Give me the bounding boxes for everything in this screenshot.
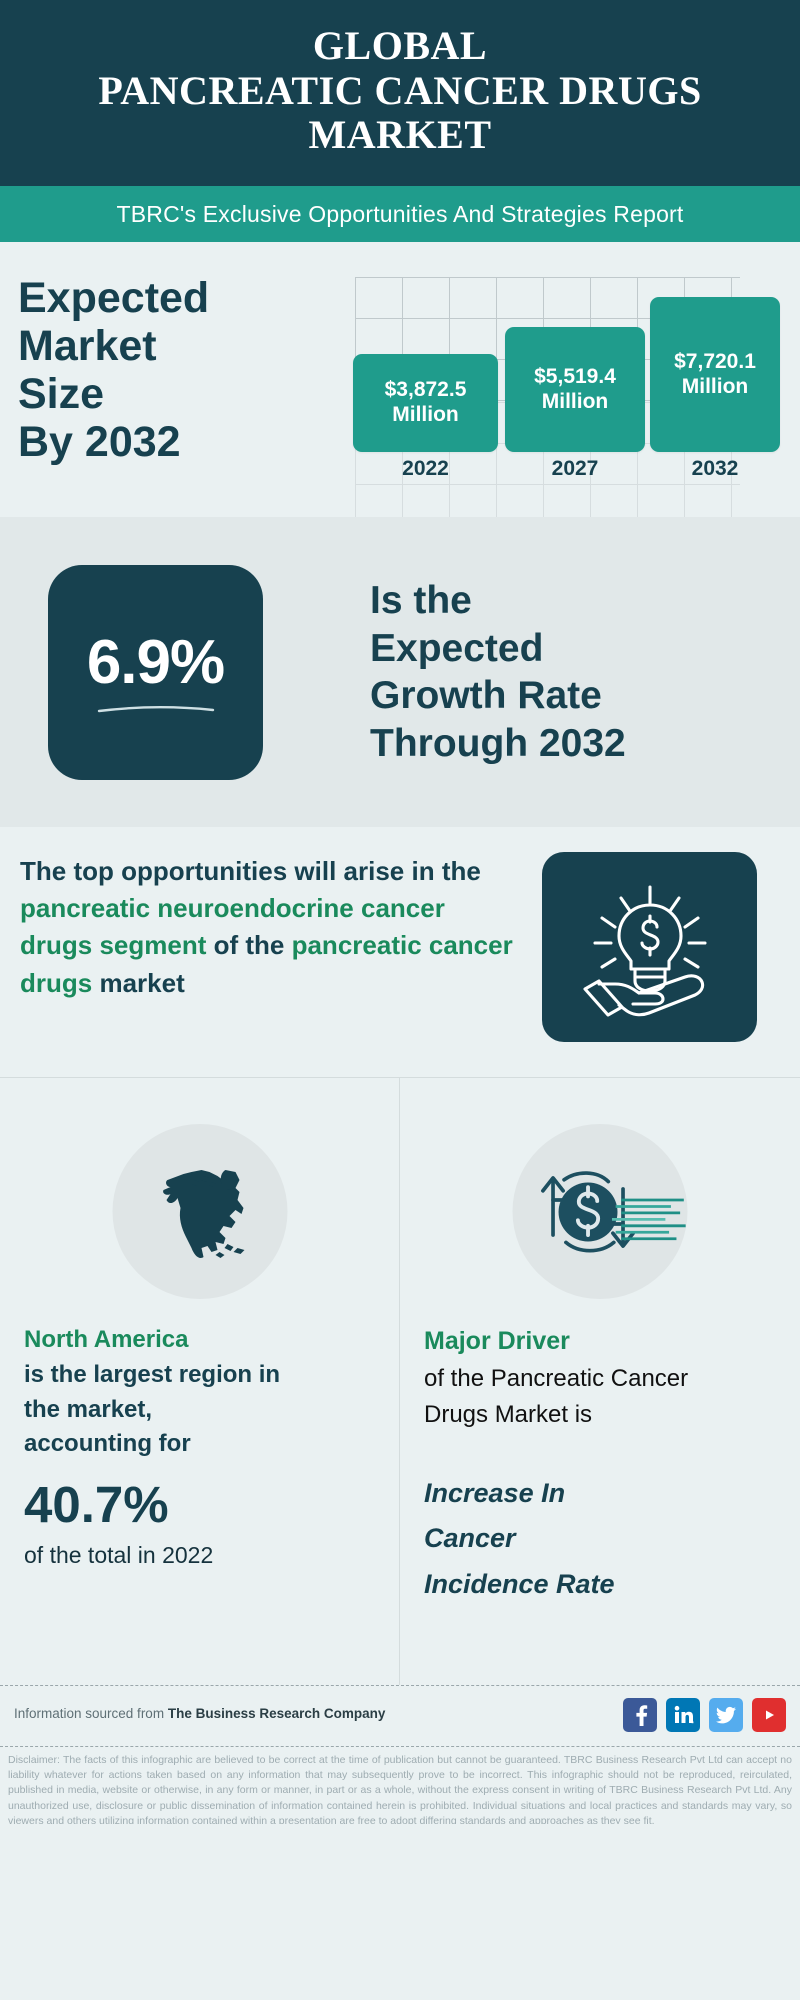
bar-2032: $7,720.1 Million (650, 297, 780, 452)
social-links[interactable] (623, 1698, 786, 1732)
title-line-1: GLOBAL (20, 24, 780, 69)
driver-panel: Major Driver of the Pancreatic Cancer Dr… (400, 1078, 800, 1685)
market-size-bar-chart: $3,872.5 Million $5,519.4 Million $7,720… (345, 262, 785, 492)
disclaimer-text: Disclaimer: The facts of this infographi… (0, 1746, 800, 1824)
opportunity-section: The top opportunities will arise in the … (0, 827, 800, 1077)
x-label-2027: 2027 (505, 457, 645, 481)
chart-x-axis-labels: 2022 2027 2032 (345, 457, 785, 497)
youtube-icon[interactable] (752, 1698, 786, 1732)
region-line-2: the market, (24, 1396, 152, 1423)
growth-rate-section: 6.9% Is the Expected Growth Rate Through… (0, 517, 800, 827)
subtitle-text: TBRC's Exclusive Opportunities And Strat… (116, 201, 683, 228)
source-company: The Business Research Company (168, 1706, 386, 1721)
north-america-map-icon (112, 1124, 287, 1299)
market-size-title: Expected Market Size By 2032 (18, 274, 278, 467)
underline-swoosh-icon (97, 704, 215, 714)
market-title-line-1: Expected (18, 274, 209, 322)
linkedin-icon[interactable] (666, 1698, 700, 1732)
bar-unit-2032: Million (682, 375, 749, 400)
region-line-1: is the largest region in (24, 1361, 280, 1388)
twitter-icon[interactable] (709, 1698, 743, 1732)
opportunity-seg-4: of the (206, 930, 291, 960)
opportunity-seg-2: in the (411, 856, 480, 886)
market-title-line-2: Market (18, 322, 157, 370)
growth-text-line-4: Through 2032 (370, 722, 626, 765)
growth-text-line-2: Expected (370, 627, 543, 670)
header-banner: GLOBAL PANCREATIC CANCER DRUGS MARKET (0, 0, 800, 186)
title-line-2: PANCREATIC CANCER DRUGS (20, 69, 780, 114)
growth-text-line-1: Is the (370, 579, 472, 622)
dollar-cycle-arrows-shape (513, 1137, 688, 1287)
region-share-percent: 40.7% (24, 1474, 384, 1535)
bar-unit-2022: Million (392, 403, 459, 428)
market-size-section: Expected Market Size By 2032 $3,872.5 Mi… (0, 242, 800, 517)
region-share-note: of the total in 2022 (24, 1539, 384, 1572)
region-line-3: accounting for (24, 1430, 191, 1457)
source-prefix: Information sourced from (14, 1706, 168, 1721)
bar-unit-2027: Million (542, 390, 609, 415)
regions-drivers-section: North America is the largest region in t… (0, 1077, 800, 1685)
x-label-2032: 2032 (650, 457, 780, 481)
region-panel: North America is the largest region in t… (0, 1078, 400, 1685)
facebook-icon[interactable] (623, 1698, 657, 1732)
driver-emphasis-line-2: Cancer (424, 1523, 516, 1553)
region-text: North America is the largest region in t… (24, 1323, 384, 1573)
opportunity-text: The top opportunities will arise in the … (20, 853, 520, 1002)
growth-rate-badge: 6.9% (48, 565, 263, 780)
page-title: GLOBAL PANCREATIC CANCER DRUGS MARKET (20, 24, 780, 158)
dollar-cycle-arrows-icon (513, 1124, 688, 1299)
driver-line-1: of the Pancreatic Cancer (424, 1365, 688, 1392)
infographic-page: GLOBAL PANCREATIC CANCER DRUGS MARKET TB… (0, 0, 800, 2000)
driver-emphasis: Increase In Cancer Incidence Rate (424, 1471, 794, 1609)
bar-value-2022: $3,872.5 (385, 378, 467, 403)
market-title-line-4: By 2032 (18, 418, 181, 466)
market-title-line-3: Size (18, 370, 104, 418)
driver-emphasis-line-1: Increase In (424, 1478, 565, 1508)
bar-2027: $5,519.4 Million (505, 327, 645, 452)
source-bar: Information sourced from The Business Re… (0, 1685, 800, 1746)
opportunity-seg-1: The top opportunities will arise (20, 856, 404, 886)
growth-text-line-3: Growth Rate (370, 674, 602, 717)
north-america-map-shape (140, 1152, 260, 1272)
hand-holding-lightbulb-dollar-icon (542, 852, 757, 1042)
title-line-3: MARKET (20, 113, 780, 158)
source-text: Information sourced from The Business Re… (14, 1706, 385, 1721)
driver-text: Major Driver of the Pancreatic Cancer Dr… (424, 1323, 794, 1608)
subtitle-bar: TBRC's Exclusive Opportunities And Strat… (0, 186, 800, 242)
driver-line-2: Drugs Market is (424, 1401, 592, 1428)
growth-rate-text: Is the Expected Growth Rate Through 2032 (370, 577, 770, 767)
growth-rate-value: 6.9% (87, 632, 224, 694)
x-label-2022: 2022 (353, 457, 498, 481)
driver-emphasis-line-3: Incidence Rate (424, 1569, 615, 1599)
region-name: North America (24, 1326, 188, 1353)
driver-heading: Major Driver (424, 1327, 570, 1355)
opportunity-seg-6: market (92, 968, 185, 998)
bar-value-2032: $7,720.1 (674, 350, 756, 375)
chart-bars: $3,872.5 Million $5,519.4 Million $7,720… (345, 262, 785, 452)
bar-value-2027: $5,519.4 (534, 365, 616, 390)
bar-2022: $3,872.5 Million (353, 354, 498, 452)
